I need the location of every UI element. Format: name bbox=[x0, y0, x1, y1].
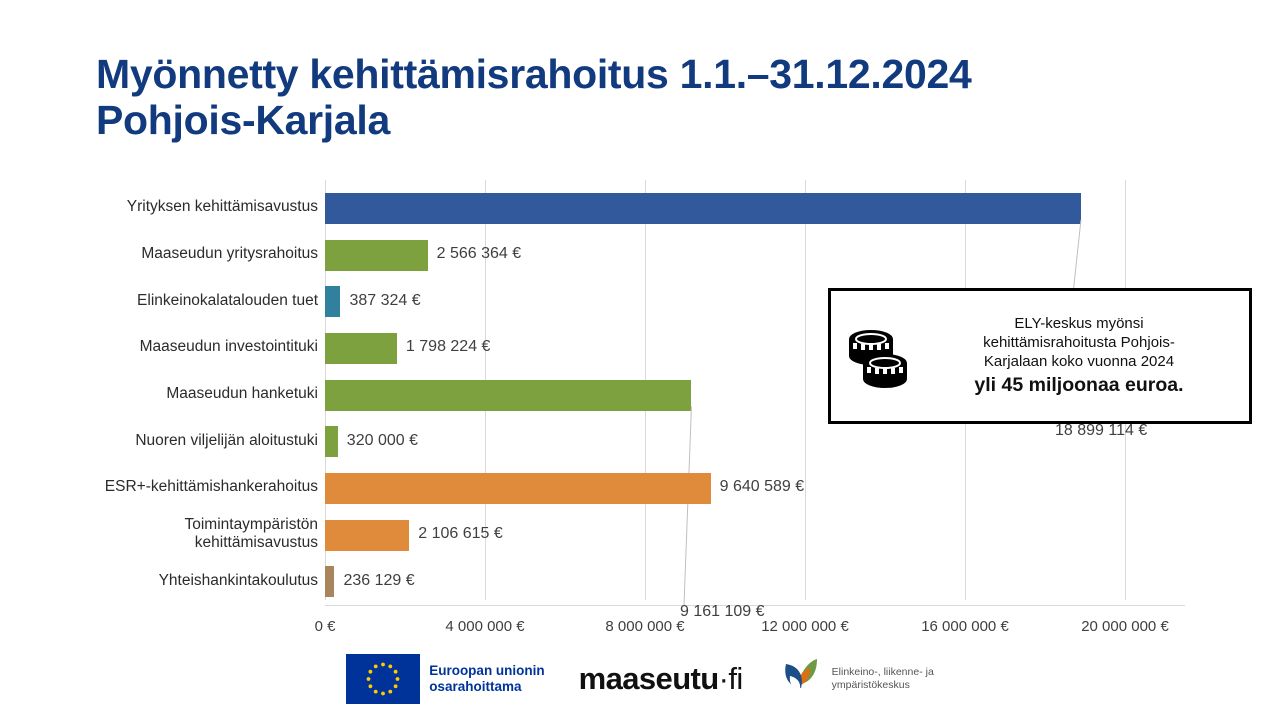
bar bbox=[325, 426, 338, 457]
eu-flag-icon bbox=[346, 654, 420, 704]
callout-text: ELY-keskus myönsi kehittämisrahoitusta P… bbox=[923, 314, 1249, 399]
x-tick-label: 16 000 000 € bbox=[921, 618, 1009, 635]
bar-value-label: 9 161 109 € bbox=[680, 603, 765, 621]
x-tick-label: 0 € bbox=[315, 618, 336, 635]
bar bbox=[325, 286, 340, 317]
category-label: Maaseudun investointituki bbox=[60, 338, 318, 356]
maaseutu-fi-logo: maaseutu·fi bbox=[579, 661, 743, 697]
maaseutu-name: maaseutu bbox=[579, 661, 719, 696]
x-tick-label: 12 000 000 € bbox=[761, 618, 849, 635]
bar-value-label: 387 324 € bbox=[349, 292, 420, 310]
bar-value-label: 236 129 € bbox=[343, 572, 414, 590]
bar bbox=[325, 566, 334, 597]
bar bbox=[325, 380, 691, 411]
footer-logos: Euroopan unionin osarahoittama maaseutu·… bbox=[0, 648, 1280, 710]
category-label: Elinkeinokalatalouden tuet bbox=[60, 292, 318, 310]
category-label: Yrityksen kehittämisavustus bbox=[60, 198, 318, 216]
category-label: Yhteishankintakoulutus bbox=[60, 572, 318, 590]
ely-keskus-logo: Elinkeino-, liikenne- ja ympäristökeskus bbox=[777, 654, 934, 705]
callout-box: ELY-keskus myönsi kehittämisrahoitusta P… bbox=[828, 288, 1252, 424]
category-label: Maaseudun yritysrahoitus bbox=[60, 245, 318, 263]
ely-keskus-label: Elinkeino-, liikenne- ja ympäristökeskus bbox=[832, 666, 934, 692]
bar bbox=[325, 193, 1081, 224]
bar-value-label: 18 899 114 € bbox=[1055, 422, 1147, 440]
category-label: Maaseudun hanketuki bbox=[60, 385, 318, 403]
ely-mark-icon bbox=[777, 654, 823, 705]
bar bbox=[325, 520, 409, 551]
category-label: ESR+-kehittämishankerahoitus bbox=[60, 478, 318, 496]
category-label: Nuoren viljelijän aloitustuki bbox=[60, 432, 318, 450]
bar-value-label: 2 566 364 € bbox=[437, 245, 522, 263]
bar-value-label: 320 000 € bbox=[347, 432, 418, 450]
callout-line-1: ELY-keskus myönsi bbox=[1014, 315, 1143, 332]
bar bbox=[325, 240, 428, 271]
page-title: Myönnetty kehittämisrahoitus 1.1.–31.12.… bbox=[96, 52, 1196, 144]
bar bbox=[325, 473, 711, 504]
bar bbox=[325, 333, 397, 364]
eu-cofunded-logo: Euroopan unionin osarahoittama bbox=[346, 654, 544, 704]
x-tick-label: 20 000 000 € bbox=[1081, 618, 1169, 635]
gridline bbox=[805, 180, 806, 600]
x-tick-label: 8 000 000 € bbox=[605, 618, 684, 635]
category-label: Toimintaympäristönkehittämisavustus bbox=[60, 516, 318, 552]
maaseutu-dot: · bbox=[719, 661, 729, 696]
eu-cofunded-label: Euroopan unionin osarahoittama bbox=[429, 663, 544, 696]
bar-value-label: 9 640 589 € bbox=[720, 478, 805, 496]
x-tick-label: 4 000 000 € bbox=[445, 618, 524, 635]
slide: Myönnetty kehittämisrahoitus 1.1.–31.12.… bbox=[0, 0, 1280, 720]
bar-value-label: 2 106 615 € bbox=[418, 525, 503, 543]
maaseutu-tld: fi bbox=[728, 661, 742, 696]
callout-line-2: kehittämisrahoitusta Pohjois- bbox=[983, 334, 1175, 351]
bar-value-label: 1 798 224 € bbox=[406, 338, 491, 356]
callout-line-3: Karjalaan koko vuonna 2024 bbox=[984, 353, 1174, 370]
callout-highlight: yli 45 miljoonaa euroa. bbox=[923, 373, 1235, 398]
coins-icon bbox=[831, 323, 923, 389]
